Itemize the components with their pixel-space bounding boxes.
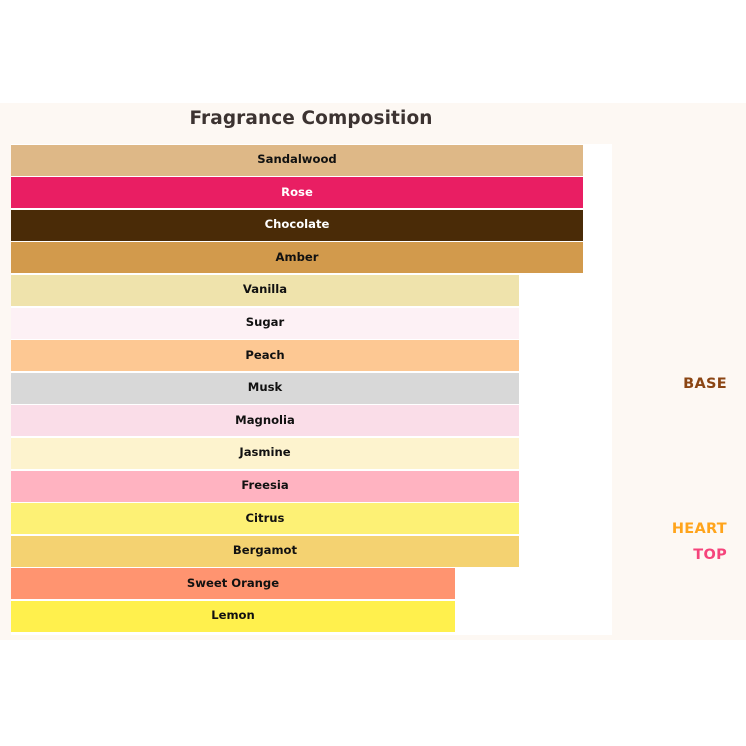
bar-label: Jasmine <box>11 448 519 460</box>
bar-bergamot[interactable]: Bergamot <box>11 536 519 567</box>
bar-magnolia[interactable]: Magnolia <box>11 405 519 436</box>
bar-amber[interactable]: Amber <box>11 242 583 273</box>
top-label: TOP <box>693 547 727 563</box>
bar-jasmine[interactable]: Jasmine <box>11 438 519 469</box>
bar-vanilla[interactable]: Vanilla <box>11 275 519 306</box>
bar-label: Sweet Orange <box>11 578 455 590</box>
bar-lemon[interactable]: Lemon <box>11 601 455 632</box>
bar-label: Amber <box>11 252 583 264</box>
bar-rose[interactable]: Rose <box>11 177 583 208</box>
bar-chocolate[interactable]: Chocolate <box>11 210 583 241</box>
bar-label: Magnolia <box>11 415 519 427</box>
bar-label: Freesia <box>11 480 519 492</box>
bar-label: Sandalwood <box>11 154 583 166</box>
base-label: BASE <box>683 376 727 392</box>
heart-label: HEART <box>672 521 727 537</box>
plot-area: SandalwoodRoseChocolateAmberVanillaSugar… <box>11 144 612 635</box>
bar-sugar[interactable]: Sugar <box>11 308 519 339</box>
bar-label: Peach <box>11 350 519 362</box>
bar-peach[interactable]: Peach <box>11 340 519 371</box>
bar-freesia[interactable]: Freesia <box>11 471 519 502</box>
bar-label: Lemon <box>11 611 455 623</box>
bar-citrus[interactable]: Citrus <box>11 503 519 534</box>
bar-label: Musk <box>11 382 519 394</box>
bar-sandalwood[interactable]: Sandalwood <box>11 145 583 176</box>
bar-label: Vanilla <box>11 285 519 297</box>
bar-label: Chocolate <box>11 219 583 231</box>
bar-label: Bergamot <box>11 545 519 557</box>
page-title: Fragrance Composition <box>0 108 622 129</box>
bar-label: Citrus <box>11 513 519 525</box>
bar-sweet-orange[interactable]: Sweet Orange <box>11 568 455 599</box>
bar-musk[interactable]: Musk <box>11 373 519 404</box>
chart-figure: Fragrance Composition SandalwoodRoseChoc… <box>0 103 746 640</box>
bar-label: Sugar <box>11 317 519 329</box>
bar-label: Rose <box>11 187 583 199</box>
